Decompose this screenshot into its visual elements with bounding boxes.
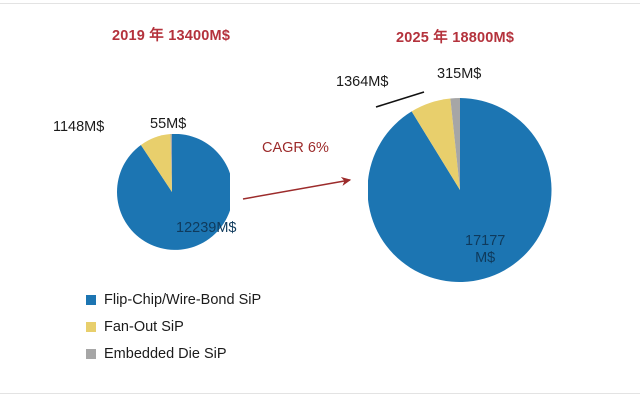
left-flip-chip-value-label: 12239M$: [176, 220, 236, 236]
right-flip-chip-value-label: 17177M$: [465, 233, 505, 267]
legend-swatch-fan-out-icon: [86, 322, 96, 332]
left-chart-title: 2019 年 13400M$: [112, 24, 230, 45]
right-fan-out-value-label: 1364M$: [336, 74, 388, 90]
legend-swatch-flip-chip-icon: [86, 295, 96, 305]
legend-item-embedded-die[interactable]: Embedded Die SiP: [86, 340, 261, 367]
right-flip-chip-value-line1: 17177: [465, 233, 505, 249]
legend-item-fan-out[interactable]: Fan-Out SiP: [86, 313, 261, 340]
cagr-arrow-icon: [240, 168, 362, 206]
pie-chart-2025: [368, 98, 552, 282]
legend-swatch-embedded-die-icon: [86, 349, 96, 359]
legend-label-fan-out: Fan-Out SiP: [104, 319, 184, 335]
left-fan-out-value-label: 55M$: [150, 116, 186, 132]
left-embedded-die-value-label: 1148M$: [53, 119, 104, 135]
cagr-annotation-label: CAGR 6%: [262, 140, 329, 156]
right-chart-title: 2025 年 18800M$: [396, 26, 514, 47]
chart-legend: Flip-Chip/Wire-Bond SiP Fan-Out SiP Embe…: [86, 286, 261, 367]
bottom-divider: [0, 393, 640, 394]
legend-label-embedded-die: Embedded Die SiP: [104, 346, 227, 362]
right-embedded-die-value-label: 315M$: [437, 66, 481, 82]
top-divider: [0, 3, 640, 4]
legend-item-flip-chip[interactable]: Flip-Chip/Wire-Bond SiP: [86, 286, 261, 313]
chart-canvas: 2019 年 13400M$ 2025 年 18800M$ 1148M$ 55M…: [0, 0, 640, 404]
legend-label-flip-chip: Flip-Chip/Wire-Bond SiP: [104, 292, 261, 308]
right-flip-chip-value-line2: M$: [465, 250, 505, 267]
